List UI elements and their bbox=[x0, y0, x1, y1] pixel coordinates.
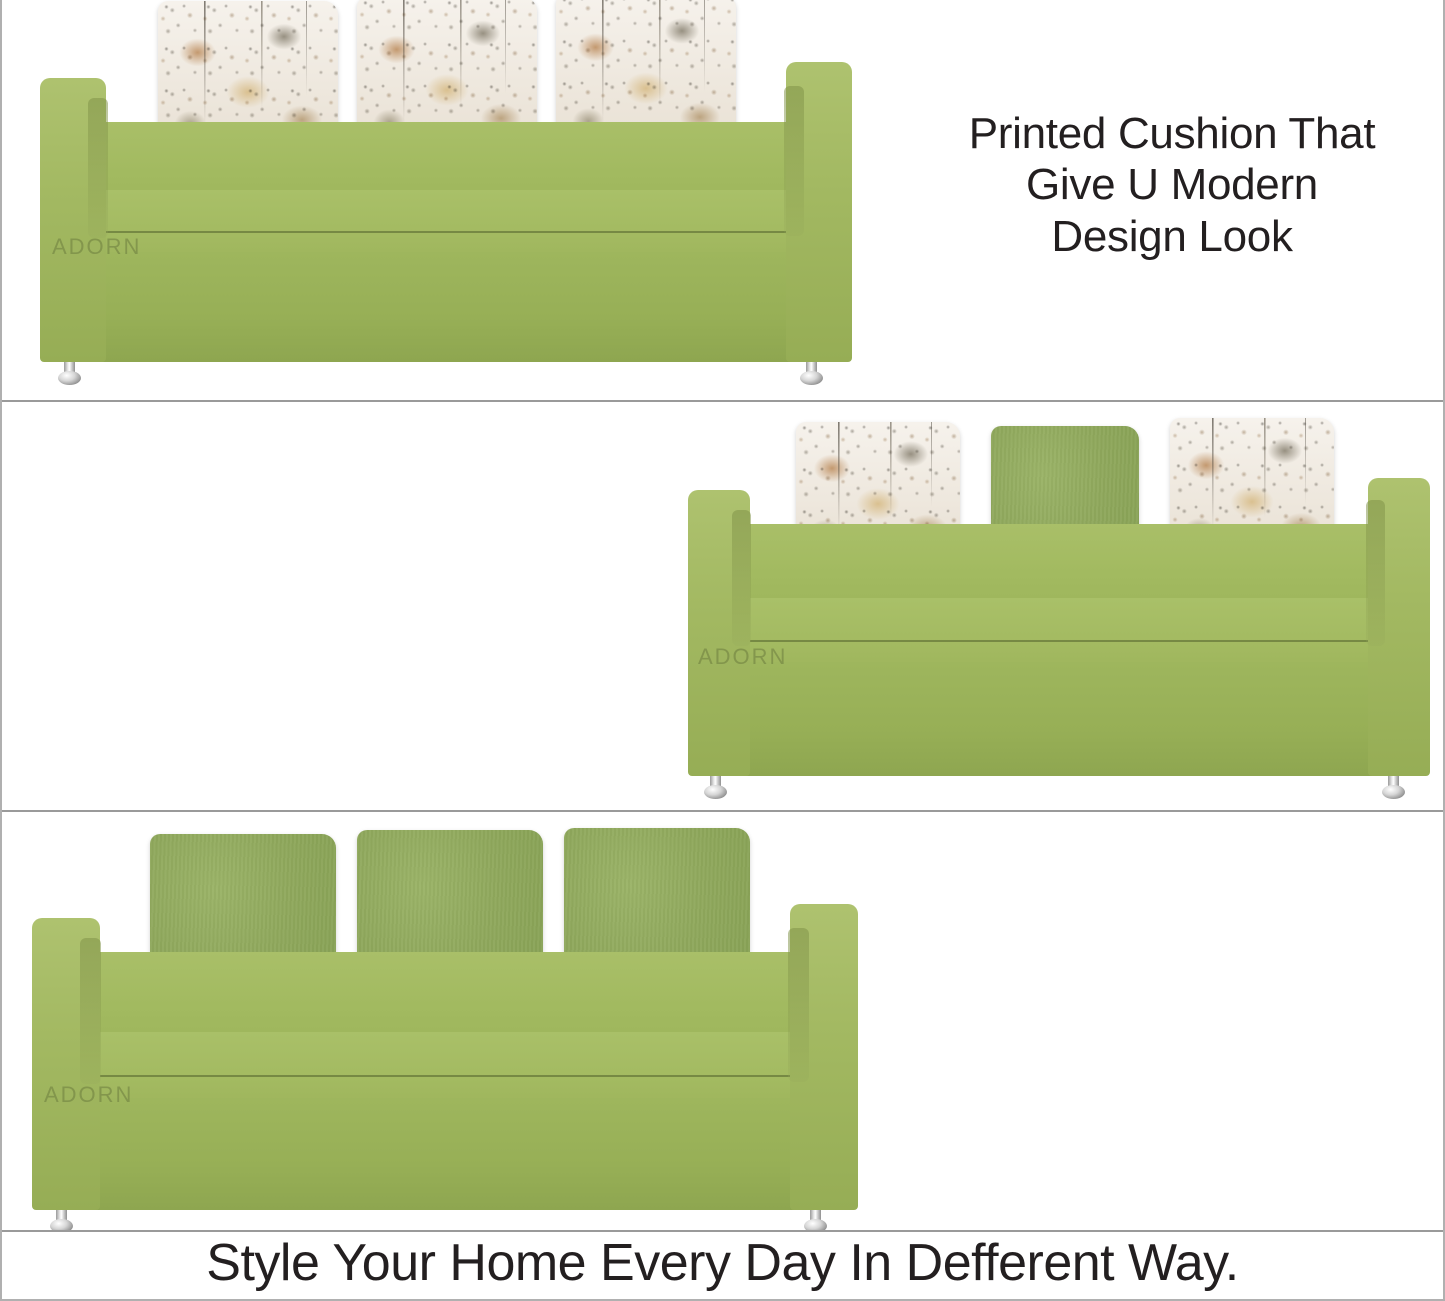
sofa-mixed-cushions: ADORN bbox=[688, 412, 1430, 804]
panel-1-caption: Printed Cushion That Give U Modern Desig… bbox=[907, 108, 1437, 262]
product-feature-image: ADORN Printed Cushion That Give U Modern… bbox=[0, 0, 1445, 1301]
sofa-base bbox=[704, 662, 1416, 776]
sofa-arm-left-inner bbox=[732, 510, 751, 646]
sofa-arm-right-inner bbox=[788, 928, 809, 1082]
sofa-arm-right-inner bbox=[784, 86, 804, 236]
feature-panel-2: ADORN Printed Cushion With Decent Combin… bbox=[2, 402, 1443, 810]
feature-panel-3: ADORN Simple & Modern Concept bbox=[2, 812, 1443, 1230]
sofa-three-printed-cushions: ADORN bbox=[40, 0, 852, 386]
sofa-arm-left-inner bbox=[88, 98, 108, 238]
sofa-base bbox=[50, 1098, 840, 1210]
sofa-arm-left-inner bbox=[80, 938, 101, 1084]
sofa-base bbox=[58, 252, 838, 362]
sofa-plain-cushions: ADORN bbox=[32, 820, 858, 1228]
sofa-arm-right-inner bbox=[1366, 500, 1385, 646]
feature-panel-1: ADORN Printed Cushion That Give U Modern… bbox=[2, 0, 1443, 400]
panel-divider-3 bbox=[2, 1230, 1443, 1232]
footer-tagline: Style Your Home Every Day In Defferent W… bbox=[2, 1237, 1443, 1289]
